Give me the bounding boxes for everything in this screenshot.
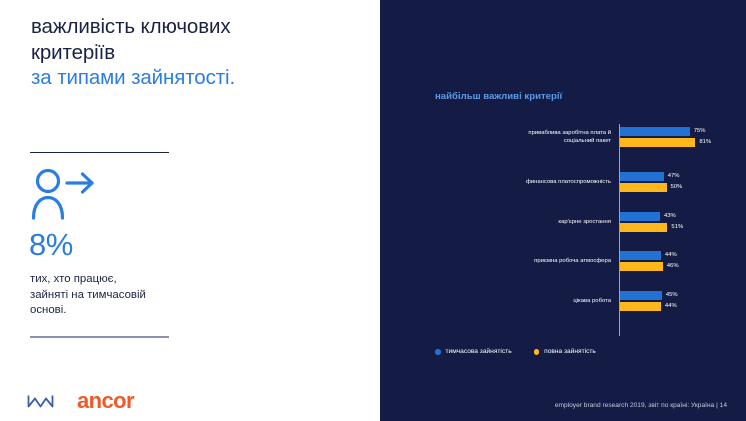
chart-bar (620, 223, 667, 232)
chart-category-label: финансова платоспроможність (461, 178, 611, 186)
chart-category-group: приємна робоча атмосфера44%46% (380, 248, 746, 273)
chart-category-label-line: цікава робота (461, 297, 611, 305)
chart-category-label-line: финансова платоспроможність (461, 178, 611, 186)
stat-description-line-2: зайняті на тимчасовій (30, 288, 205, 304)
person-arrow-icon (29, 168, 99, 220)
chart-category-label-line: приємна робоча атмосфера (461, 257, 611, 265)
stat-description: тих, хто працює, зайняті на тимчасовій о… (30, 272, 205, 319)
chart-bar-value: 51% (671, 223, 683, 232)
chart-bar-value: 46% (667, 262, 679, 271)
chart-category-label-line: кар'єрне зростання (461, 218, 611, 226)
divider-bottom (30, 336, 169, 338)
slide: важливість ключових критеріїв за типами … (0, 0, 746, 421)
chart-bar (620, 291, 662, 300)
chart-bar-row: 47% (620, 172, 680, 181)
page-title-line-2: критеріїв (31, 40, 351, 66)
bar-chart: приваблива заробітна плата йсоціальний п… (380, 124, 746, 336)
stat-description-line-1: тих, хто працює, (30, 272, 205, 288)
chart-bar-row: 51% (620, 223, 683, 232)
chart-bar (620, 138, 695, 147)
chart-category-group: финансова платоспроможність47%50% (380, 169, 746, 194)
chart-bar-row: 45% (620, 291, 678, 300)
footer-note: employer brand research 2019, звіт по кр… (380, 401, 727, 410)
legend-dot-icon (435, 349, 441, 355)
chart-category-label-line: приваблива заробітна плата й (461, 129, 611, 137)
chart-bar-pair: 44%46% (620, 248, 746, 273)
chart-panel: найбільш важливі критерії приваблива зар… (380, 0, 746, 421)
chart-legend-label: тимчасова зайнятість (446, 348, 512, 356)
chart-bar (620, 251, 661, 260)
chart-legend-item[interactable]: повна зайнятість (534, 348, 596, 356)
chart-bar-row: 43% (620, 212, 676, 221)
chart-bar (620, 302, 661, 311)
chart-bar-pair: 75%81% (620, 124, 746, 149)
chart-bar (620, 262, 663, 271)
stat-percentage: 8% (29, 228, 73, 262)
brand-logo: ancor (27, 390, 134, 412)
chart-category-group: цікава робота45%44% (380, 288, 746, 313)
chart-category-label-line: соціальний пакет (461, 137, 611, 145)
left-panel: важливість ключових критеріїв за типами … (0, 0, 380, 421)
chart-bar-row: 44% (620, 251, 677, 260)
chart-legend-label: повна зайнятість (544, 348, 596, 356)
brand-name: ancor (77, 390, 134, 412)
chart-category-label: кар'єрне зростання (461, 218, 611, 226)
page-title-line-3: за типами зайнятості. (31, 65, 351, 91)
chart-bar (620, 183, 667, 192)
ancor-logo-mark-icon (27, 393, 54, 409)
chart-bar-pair: 45%44% (620, 288, 746, 313)
stat-description-line-3: основі. (30, 303, 205, 319)
chart-bar (620, 172, 664, 181)
divider-top (30, 152, 169, 153)
chart-bar-value: 81% (699, 138, 711, 147)
chart-bar-pair: 47%50% (620, 169, 746, 194)
chart-bar (620, 127, 690, 136)
chart-bar-row: 44% (620, 302, 677, 311)
chart-bar-row: 81% (620, 138, 711, 147)
chart-category-group: приваблива заробітна плата йсоціальний п… (380, 124, 746, 149)
chart-bar-row: 75% (620, 127, 706, 136)
chart-bar-value: 44% (665, 302, 677, 311)
chart-category-group: кар'єрне зростання43%51% (380, 209, 746, 234)
chart-legend: тимчасова зайнятістьповна зайнятість (435, 348, 596, 356)
chart-bar-row: 46% (620, 262, 679, 271)
chart-category-label: приємна робоча атмосфера (461, 257, 611, 265)
chart-bar-value: 43% (664, 212, 676, 221)
chart-bar-value: 45% (666, 291, 678, 300)
chart-bar (620, 212, 660, 221)
page-title-line-1: важливість ключових (31, 14, 351, 40)
chart-bar-value: 44% (665, 251, 677, 260)
chart-legend-item[interactable]: тимчасова зайнятість (435, 348, 512, 356)
chart-bar-row: 50% (620, 183, 682, 192)
chart-bar-value: 47% (668, 172, 680, 181)
chart-bar-value: 50% (671, 183, 683, 192)
chart-bar-value: 75% (694, 127, 706, 136)
legend-dot-icon (534, 349, 540, 355)
chart-bar-pair: 43%51% (620, 209, 746, 234)
chart-title: найбільш важливі критерії (435, 91, 562, 103)
chart-category-label: цікава робота (461, 297, 611, 305)
page-title: важливість ключових критеріїв за типами … (31, 14, 351, 91)
chart-category-label: приваблива заробітна плата йсоціальний п… (461, 129, 611, 145)
